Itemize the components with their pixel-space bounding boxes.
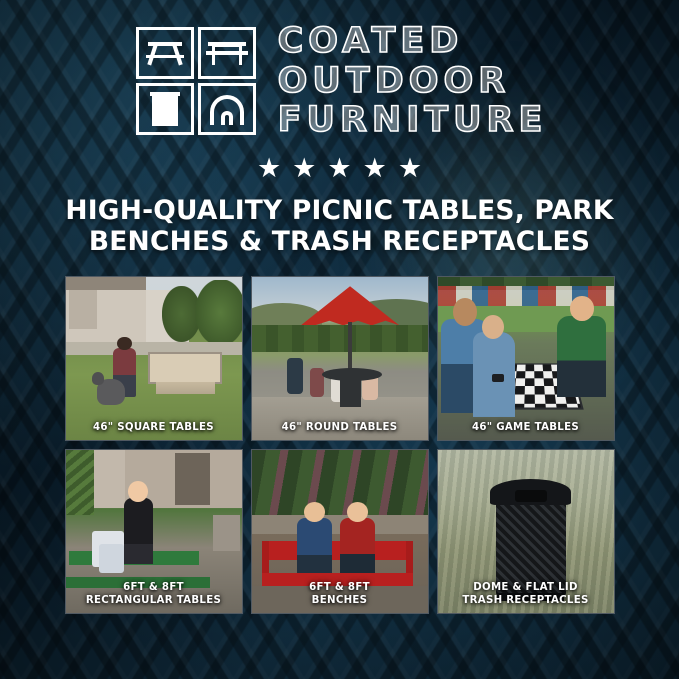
star-icon-1: ★	[257, 155, 281, 182]
caption-line-1: 46" SQUARE TABLES	[70, 422, 238, 434]
trash-can-icon	[136, 83, 194, 135]
brand-wordmark: COATED OUTDOOR FURNITURE	[278, 24, 548, 139]
star-icon-4: ★	[363, 155, 387, 182]
headline-line-2: BENCHES & TRASH RECEPTACLES	[65, 227, 613, 258]
headline-line-1: HIGH-QUALITY PICNIC TABLES, PARK	[65, 196, 613, 227]
photo-tile-square-tables: 46" SQUARE TABLES	[65, 276, 243, 441]
photo-square-tables	[66, 277, 242, 440]
product-photo-grid: 46" SQUARE TABLES 46" ROUND TABLES	[65, 276, 615, 614]
product-banner: COATED OUTDOOR FURNITURE ★ ★ ★ ★ ★ HIGH-…	[0, 0, 679, 679]
caption-line-2: TRASH RECEPTACLES	[442, 595, 610, 607]
photo-caption: 46" SQUARE TABLES	[66, 417, 242, 440]
star-icon-2: ★	[292, 155, 316, 182]
caption-line-1: 6FT & 8FT	[70, 582, 238, 594]
caption-line-1: 46" GAME TABLES	[442, 422, 610, 434]
photo-tile-trash-receptacles: DOME & FLAT LID TRASH RECEPTACLES	[437, 449, 615, 614]
brand-word-furniture: FURNITURE	[278, 103, 548, 139]
photo-round-tables	[252, 277, 428, 440]
bench-icon	[198, 27, 256, 79]
brand-word-outdoor: OUTDOOR	[278, 64, 548, 100]
star-icon-5: ★	[398, 155, 422, 182]
dome-trash-can-icon	[198, 83, 256, 135]
caption-line-2: BENCHES	[256, 595, 424, 607]
picnic-table-icon	[136, 27, 194, 79]
caption-line-2: RECTANGULAR TABLES	[70, 595, 238, 607]
brand-logo: COATED OUTDOOR FURNITURE	[132, 22, 548, 139]
photo-tile-benches: 6FT & 8FT BENCHES	[251, 449, 429, 614]
star-icon-3: ★	[327, 155, 351, 182]
photo-tile-round-tables: 46" ROUND TABLES	[251, 276, 429, 441]
photo-caption: 46" GAME TABLES	[438, 417, 614, 440]
photo-caption: DOME & FLAT LID TRASH RECEPTACLES	[438, 577, 614, 612]
star-rating: ★ ★ ★ ★ ★	[257, 155, 422, 182]
photo-caption: 6FT & 8FT RECTANGULAR TABLES	[66, 577, 242, 612]
headline: HIGH-QUALITY PICNIC TABLES, PARK BENCHES…	[65, 196, 613, 257]
photo-caption: 6FT & 8FT BENCHES	[252, 577, 428, 612]
banner-content: COATED OUTDOOR FURNITURE ★ ★ ★ ★ ★ HIGH-…	[0, 0, 679, 679]
photo-game-tables	[438, 277, 614, 440]
photo-tile-game-tables: 46" GAME TABLES	[437, 276, 615, 441]
caption-line-1: DOME & FLAT LID	[442, 582, 610, 594]
caption-line-1: 46" ROUND TABLES	[256, 422, 424, 434]
logo-icon-grid	[132, 25, 260, 137]
brand-word-coated: COATED	[278, 24, 548, 60]
photo-caption: 46" ROUND TABLES	[252, 417, 428, 440]
caption-line-1: 6FT & 8FT	[256, 582, 424, 594]
photo-tile-rectangular-tables: 6FT & 8FT RECTANGULAR TABLES	[65, 449, 243, 614]
